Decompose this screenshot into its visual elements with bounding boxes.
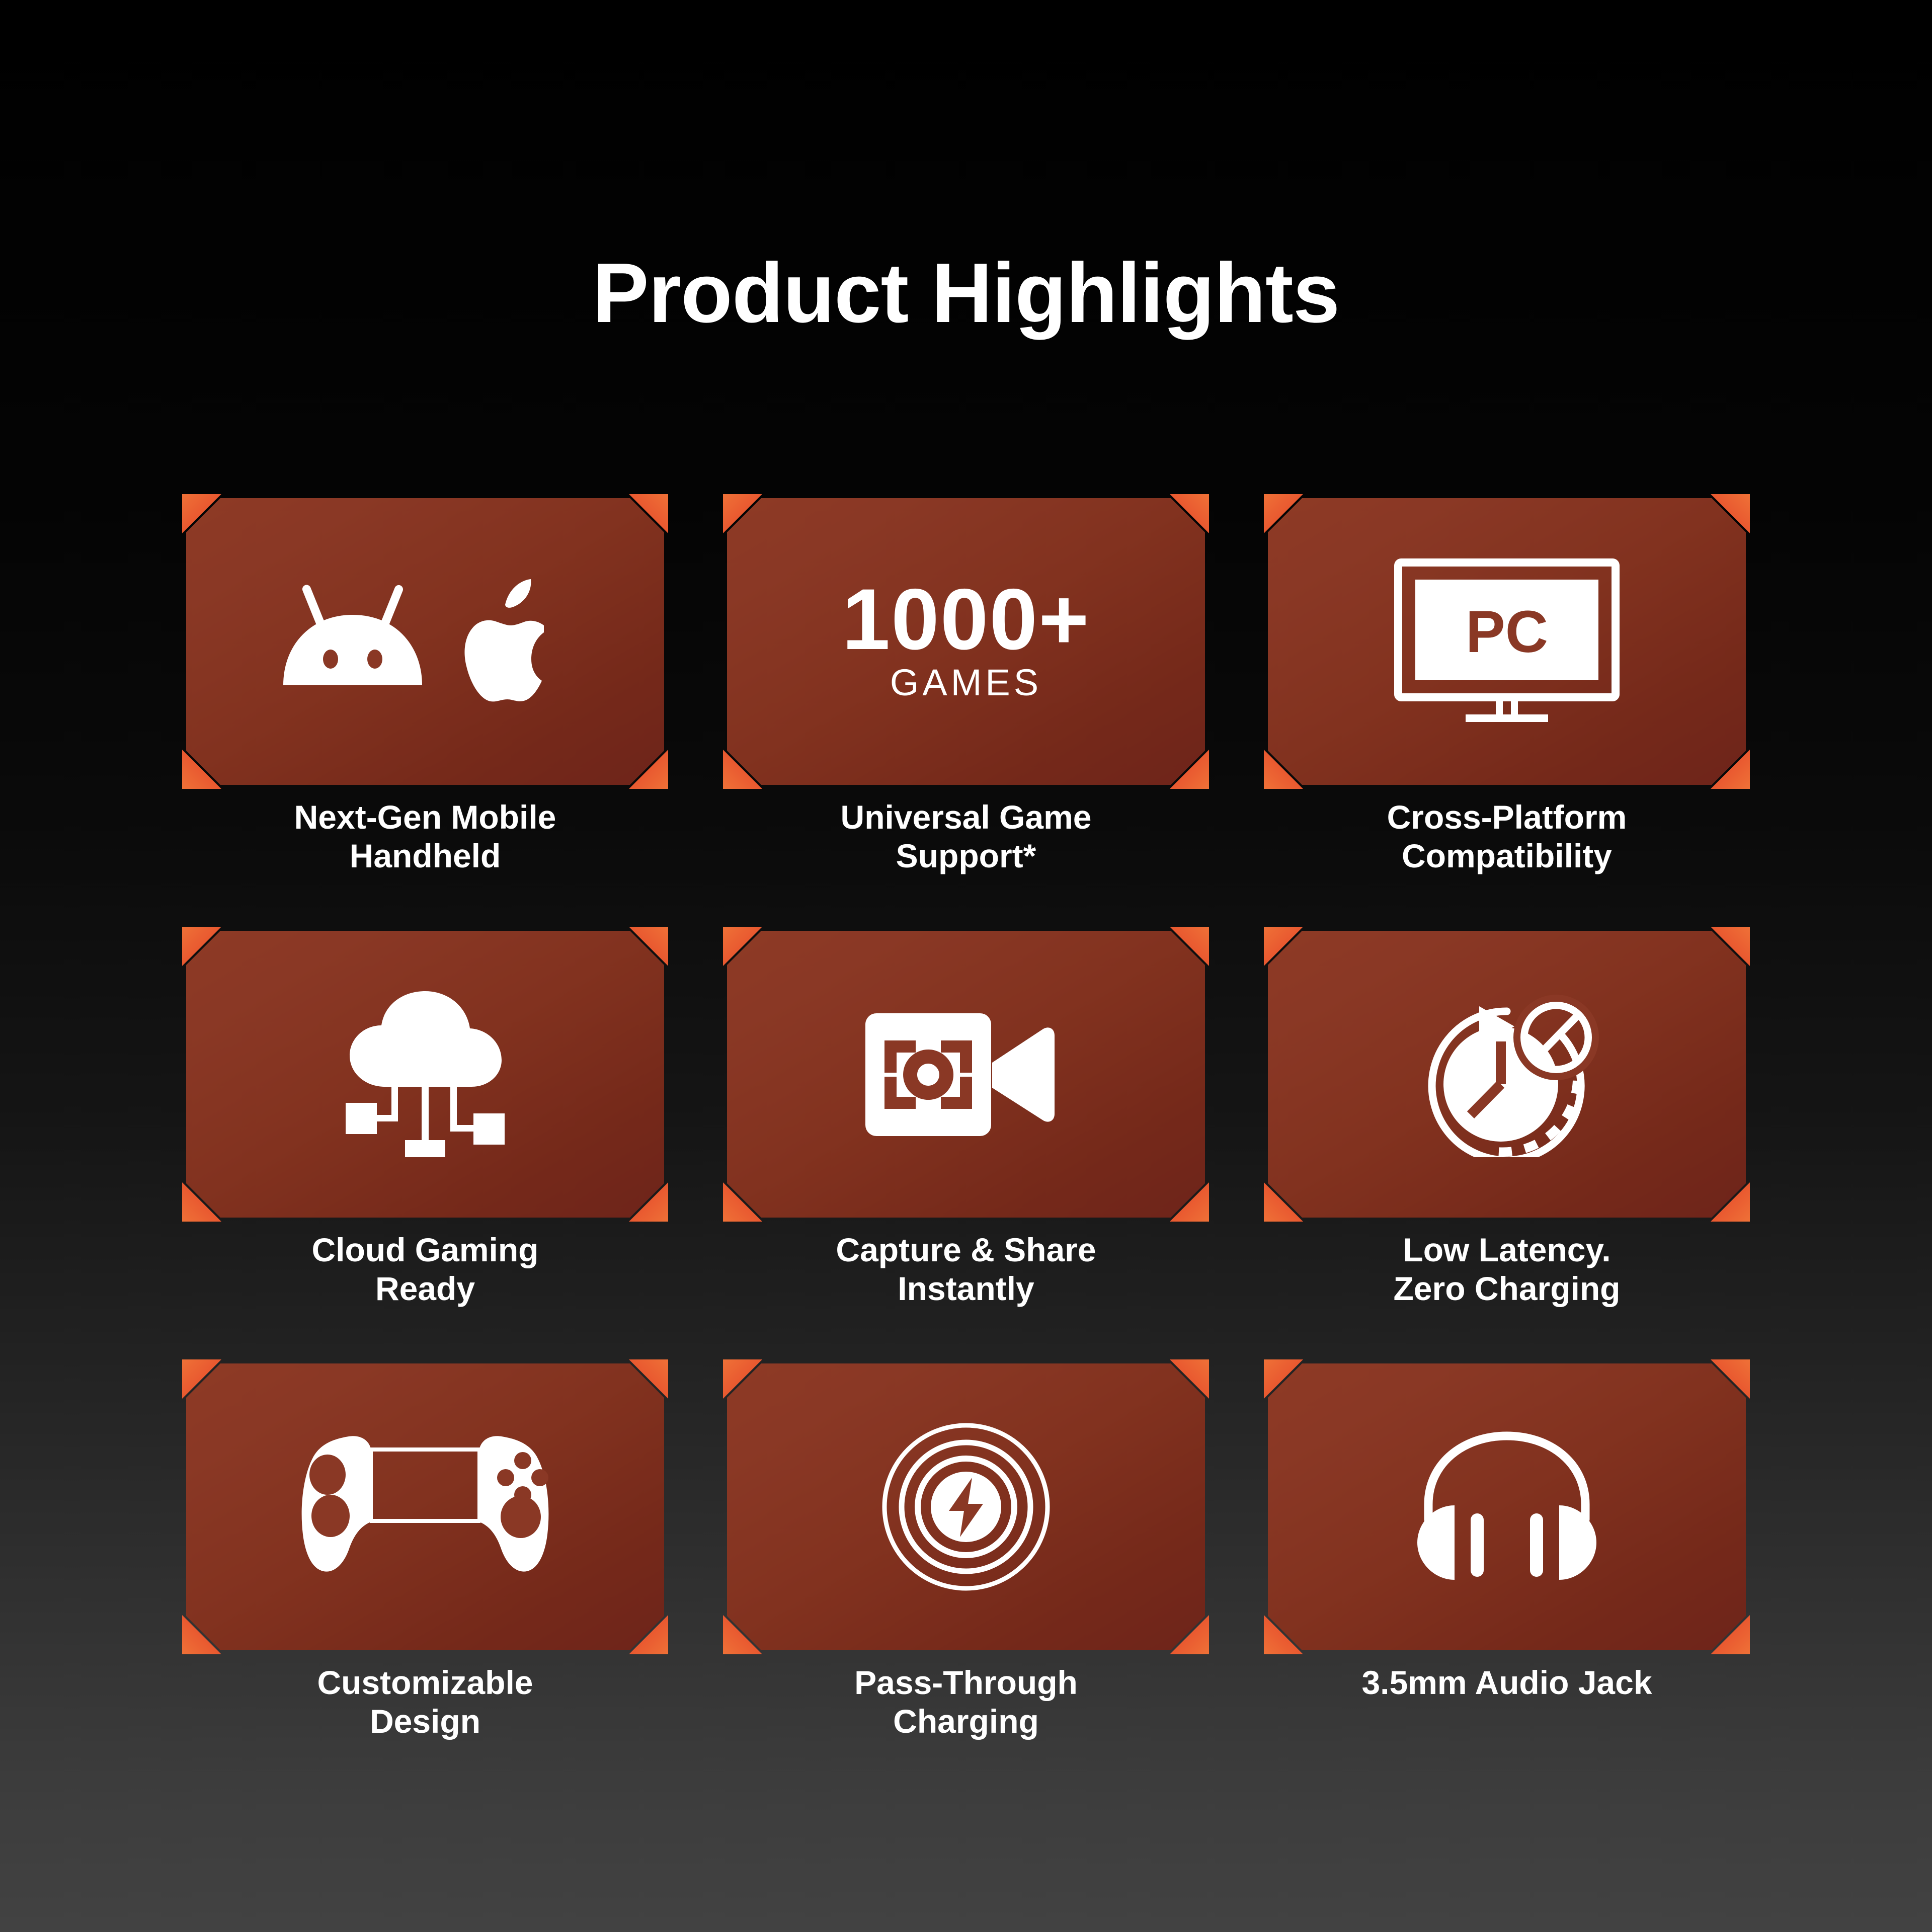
wireless-bolt-icon xyxy=(727,1363,1205,1650)
card-caption: Cloud Gaming Ready xyxy=(186,1231,664,1308)
card-panel xyxy=(1268,931,1746,1218)
card-panel: PC xyxy=(1268,498,1746,785)
cloud-network-icon xyxy=(186,931,664,1218)
highlight-card-customizable-design[interactable]: Customizable Design xyxy=(186,1363,664,1796)
card-panel xyxy=(727,931,1205,1218)
android-apple-icon xyxy=(186,498,664,785)
card-caption: 3.5mm Audio Jack xyxy=(1268,1663,1746,1702)
highlight-card-cloud-gaming-ready[interactable]: Cloud Gaming Ready xyxy=(186,931,664,1363)
card-panel xyxy=(186,498,664,785)
page-title: Product Highlights xyxy=(0,251,1932,335)
card-panel xyxy=(1268,1363,1746,1650)
monitor-screen-text: PC xyxy=(1466,599,1548,665)
card-panel xyxy=(186,931,664,1218)
highlight-card-pass-through-charging[interactable]: Pass-Through Charging xyxy=(727,1363,1205,1796)
highlight-card-capture-share[interactable]: Capture & Share Instantly xyxy=(727,931,1205,1363)
card-panel xyxy=(186,1363,664,1650)
card-caption: Universal Game Support* xyxy=(727,798,1205,875)
card-panel xyxy=(727,1363,1205,1650)
games-count-label: GAMES xyxy=(842,662,1090,703)
highlight-card-low-latency[interactable]: Low Latency. Zero Charging xyxy=(1268,931,1746,1363)
highlights-grid: Next-Gen Mobile Handheld 1000+ GAMES Uni… xyxy=(186,498,1746,1796)
gamepad-icon xyxy=(186,1363,664,1650)
card-caption: Cross-Platform Compatibility xyxy=(1268,798,1746,875)
card-caption: Next-Gen Mobile Handheld xyxy=(186,798,664,875)
clock-no-charge-icon xyxy=(1268,931,1746,1218)
highlight-card-next-gen-mobile-handheld[interactable]: Next-Gen Mobile Handheld xyxy=(186,498,664,931)
card-caption: Capture & Share Instantly xyxy=(727,1231,1205,1308)
highlight-card-cross-platform[interactable]: PC Cross-Platform Compatibility xyxy=(1268,498,1746,931)
card-caption: Low Latency. Zero Charging xyxy=(1268,1231,1746,1308)
games-count-badge: 1000+ GAMES xyxy=(727,498,1205,785)
highlight-card-universal-game-support[interactable]: 1000+ GAMES Universal Game Support* xyxy=(727,498,1205,931)
games-count-number: 1000+ xyxy=(842,580,1090,659)
video-camera-icon xyxy=(727,931,1205,1218)
card-caption: Customizable Design xyxy=(186,1663,664,1741)
headphones-icon xyxy=(1268,1363,1746,1650)
card-panel: 1000+ GAMES xyxy=(727,498,1205,785)
card-caption: Pass-Through Charging xyxy=(727,1663,1205,1741)
pc-monitor-icon: PC xyxy=(1268,498,1746,785)
highlight-card-audio-jack[interactable]: 3.5mm Audio Jack xyxy=(1268,1363,1746,1796)
